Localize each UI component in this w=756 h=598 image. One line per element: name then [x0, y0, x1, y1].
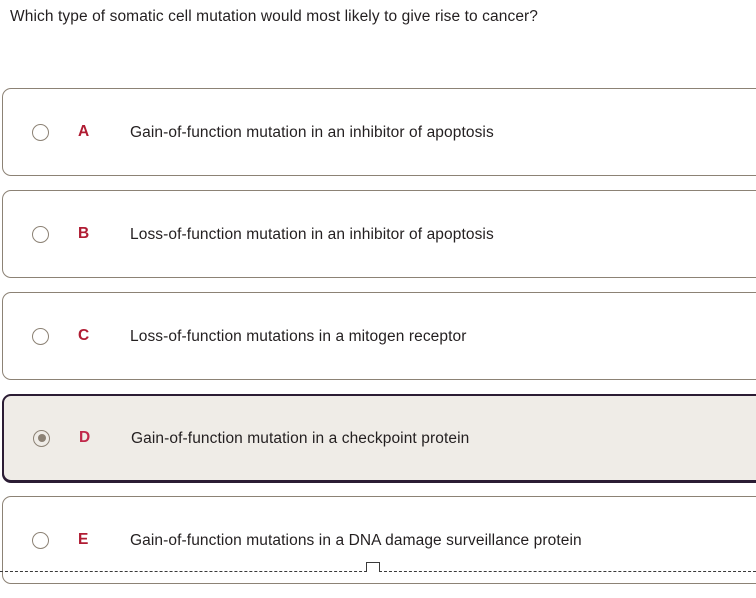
option-text-e: Gain-of-function mutations in a DNA dama… [130, 530, 756, 551]
option-letter-a: A [78, 123, 130, 141]
answer-options-list: A Gain-of-function mutation in an inhibi… [0, 88, 756, 598]
radio-cell-b[interactable] [3, 226, 78, 243]
option-letter-e: E [78, 531, 130, 549]
option-letter-d: D [79, 429, 131, 447]
option-letter-c: C [78, 327, 130, 345]
radio-cell-e[interactable] [3, 532, 78, 549]
radio-button-e-icon[interactable] [32, 532, 49, 549]
radio-button-a-icon[interactable] [32, 124, 49, 141]
answer-option-b[interactable]: B Loss-of-function mutation in an inhibi… [2, 190, 756, 278]
radio-button-d-selected-icon[interactable] [33, 430, 50, 447]
option-text-a: Gain-of-function mutation in an inhibito… [130, 122, 756, 143]
radio-cell-c[interactable] [3, 328, 78, 345]
answer-option-c[interactable]: C Loss-of-function mutations in a mitoge… [2, 292, 756, 380]
radio-button-b-icon[interactable] [32, 226, 49, 243]
page-break-handle[interactable] [366, 562, 380, 572]
option-letter-b: B [78, 225, 130, 243]
option-text-d: Gain-of-function mutation in a checkpoin… [131, 428, 756, 449]
radio-cell-a[interactable] [3, 124, 78, 141]
option-text-c: Loss-of-function mutations in a mitogen … [130, 326, 756, 347]
option-text-b: Loss-of-function mutation in an inhibito… [130, 224, 756, 245]
page-break-divider [0, 562, 756, 576]
answer-option-d[interactable]: D Gain-of-function mutation in a checkpo… [2, 394, 756, 482]
radio-button-c-icon[interactable] [32, 328, 49, 345]
answer-option-a[interactable]: A Gain-of-function mutation in an inhibi… [2, 88, 756, 176]
radio-cell-d[interactable] [4, 430, 79, 447]
question-stem: Which type of somatic cell mutation woul… [10, 6, 746, 28]
